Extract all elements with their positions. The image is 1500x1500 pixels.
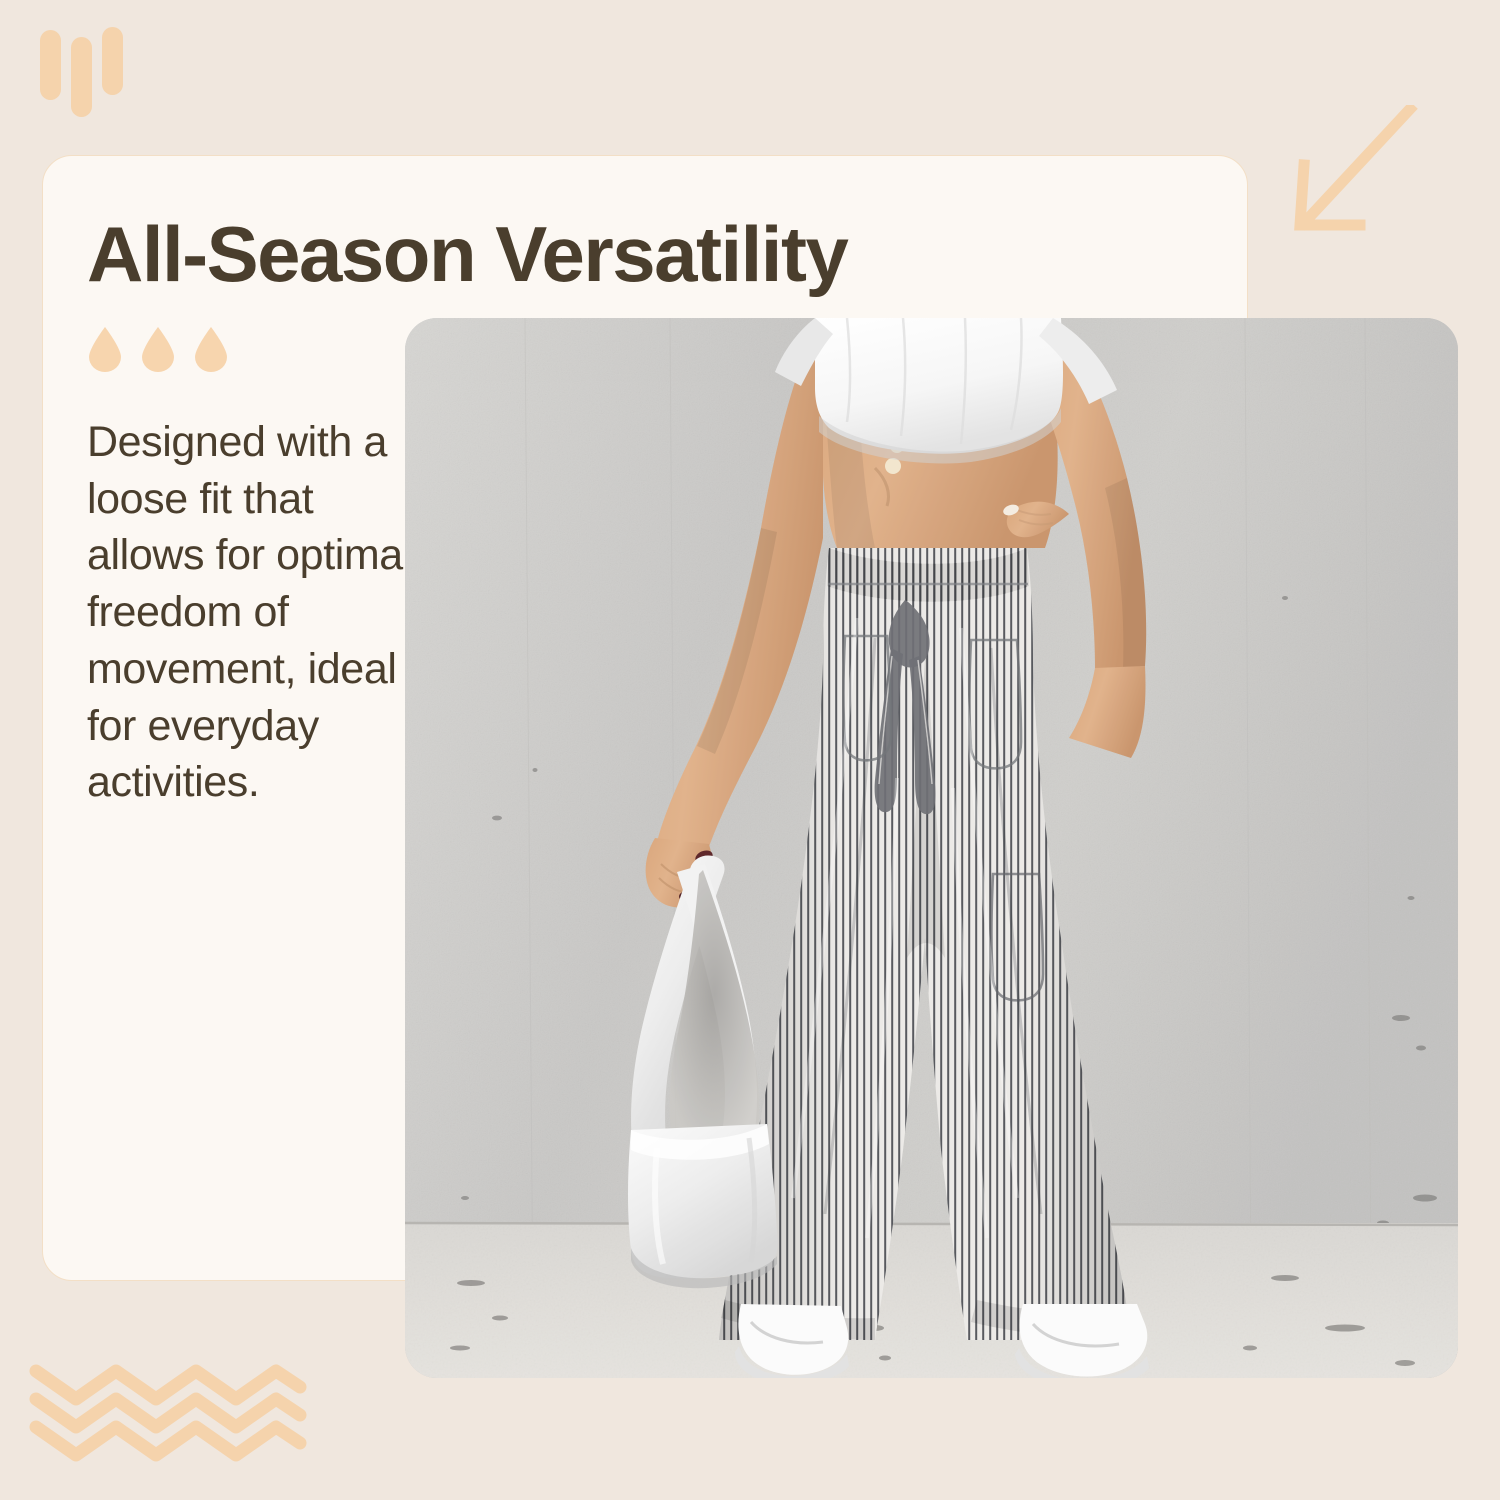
water-drop-icon [193,326,229,372]
bar-3 [102,27,123,95]
page-title: All-Season Versatility [87,214,1047,296]
vertical-bars-decoration [40,22,130,132]
product-photo [405,318,1458,1378]
body-description: Designed with a loose fit that allows fo… [87,414,417,811]
bar-2 [71,37,92,117]
water-drop-icon [87,326,123,372]
water-drop-icon [140,326,176,372]
zigzag-wave-decoration [28,1355,358,1485]
arrow-down-left-icon [1278,105,1418,255]
bar-1 [40,30,61,100]
